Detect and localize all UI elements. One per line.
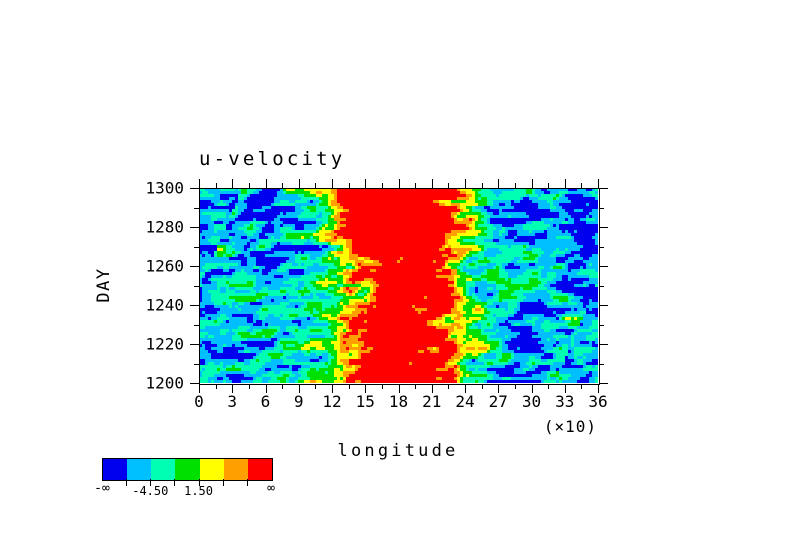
x-major-tick-top xyxy=(266,179,267,188)
colorbar-label: -4.50 xyxy=(132,484,168,498)
y-minor-tick-right xyxy=(599,325,604,326)
y-axis-title: DAY xyxy=(94,267,114,302)
x-minor-tick-bottom xyxy=(581,384,582,389)
x-tick-label: 21 xyxy=(422,392,441,411)
colorbar xyxy=(102,458,273,481)
plot-title: u-velocity xyxy=(199,148,345,170)
x-major-tick-top xyxy=(332,179,333,188)
y-minor-tick-right xyxy=(599,247,604,248)
y-minor-tick-left xyxy=(194,247,199,248)
y-major-tick-right xyxy=(599,344,608,345)
x-minor-tick-top xyxy=(448,183,449,188)
x-major-tick-top xyxy=(565,179,566,188)
x-tick-label: 9 xyxy=(294,392,304,411)
x-minor-tick-top xyxy=(548,183,549,188)
colorbar-label: ∞ xyxy=(267,484,275,494)
y-major-tick-right xyxy=(599,305,608,306)
y-minor-tick-right xyxy=(599,364,604,365)
x-tick-label: 30 xyxy=(522,392,541,411)
x-minor-tick-bottom xyxy=(382,384,383,389)
colorbar-label: 1.50 xyxy=(184,484,213,498)
x-major-tick-top xyxy=(199,179,200,188)
x-tick-label: 12 xyxy=(322,392,341,411)
colorbar-tick xyxy=(247,479,248,486)
y-major-tick-right xyxy=(599,188,608,189)
x-minor-tick-top xyxy=(482,183,483,188)
figure-canvas: u-velocity 03691215182124273033361200122… xyxy=(0,0,789,558)
colorbar-tick xyxy=(174,479,175,486)
x-minor-tick-bottom xyxy=(349,384,350,389)
x-minor-tick-top xyxy=(382,183,383,188)
x-minor-tick-top xyxy=(581,183,582,188)
heatmap-plot-area xyxy=(199,188,598,383)
colorbar-tick xyxy=(126,479,127,486)
x-tick-label: 15 xyxy=(356,392,375,411)
x-minor-tick-bottom xyxy=(282,384,283,389)
colorbar-band-1 xyxy=(127,459,151,480)
x-minor-tick-top xyxy=(216,183,217,188)
x-tick-label: 6 xyxy=(261,392,271,411)
x-major-tick-top xyxy=(432,179,433,188)
x-major-tick-top xyxy=(598,179,599,188)
colorbar-band-2 xyxy=(151,459,175,480)
x-minor-tick-bottom xyxy=(415,384,416,389)
x-minor-tick-bottom xyxy=(548,384,549,389)
y-minor-tick-left xyxy=(194,286,199,287)
x-tick-label: 0 xyxy=(194,392,204,411)
y-minor-tick-right xyxy=(599,208,604,209)
x-tick-label: 24 xyxy=(455,392,474,411)
y-major-tick-right xyxy=(599,227,608,228)
y-tick-label: 1240 xyxy=(145,296,184,315)
y-minor-tick-left xyxy=(194,364,199,365)
y-tick-label: 1280 xyxy=(145,218,184,237)
x-minor-tick-top xyxy=(282,183,283,188)
y-tick-label: 1260 xyxy=(145,257,184,276)
x-axis-title: longitude xyxy=(338,441,459,461)
colorbar-band-4 xyxy=(200,459,224,480)
heatmap-field xyxy=(199,188,598,383)
y-tick-label: 1200 xyxy=(145,374,184,393)
x-major-tick-top xyxy=(399,179,400,188)
colorbar-band-6 xyxy=(248,459,272,480)
y-minor-tick-right xyxy=(599,286,604,287)
y-minor-tick-left xyxy=(194,208,199,209)
x-minor-tick-bottom xyxy=(315,384,316,389)
x-minor-tick-top xyxy=(515,183,516,188)
x-minor-tick-bottom xyxy=(249,384,250,389)
y-major-tick-left xyxy=(190,188,199,189)
x-minor-tick-bottom xyxy=(216,384,217,389)
y-major-tick-left xyxy=(190,227,199,228)
y-major-tick-left xyxy=(190,305,199,306)
colorbar-band-5 xyxy=(224,459,248,480)
y-tick-label: 1300 xyxy=(145,179,184,198)
x-major-tick-top xyxy=(498,179,499,188)
y-major-tick-left xyxy=(190,383,199,384)
y-major-tick-left xyxy=(190,266,199,267)
x-minor-tick-bottom xyxy=(448,384,449,389)
x-tick-label: 3 xyxy=(227,392,237,411)
x-major-tick-top xyxy=(365,179,366,188)
x-minor-tick-top xyxy=(249,183,250,188)
colorbar-label: -∞ xyxy=(94,484,110,494)
x-minor-tick-top xyxy=(349,183,350,188)
y-major-tick-left xyxy=(190,344,199,345)
x-major-tick-top xyxy=(299,179,300,188)
y-major-tick-right xyxy=(599,266,608,267)
x-minor-tick-bottom xyxy=(515,384,516,389)
x-tick-label: 27 xyxy=(489,392,508,411)
x-tick-label: 18 xyxy=(389,392,408,411)
x-minor-tick-bottom xyxy=(482,384,483,389)
colorbar-band-3 xyxy=(175,459,199,480)
x-minor-tick-top xyxy=(315,183,316,188)
y-minor-tick-left xyxy=(194,325,199,326)
x-tick-label: 36 xyxy=(588,392,607,411)
x-major-tick-top xyxy=(532,179,533,188)
colorbar-band-0 xyxy=(103,459,127,480)
colorbar-tick xyxy=(223,479,224,486)
x-major-tick-top xyxy=(232,179,233,188)
x-tick-label: 33 xyxy=(555,392,574,411)
y-tick-label: 1220 xyxy=(145,335,184,354)
x-major-tick-top xyxy=(465,179,466,188)
x-minor-tick-top xyxy=(415,183,416,188)
x-axis-multiplier-label: (×10) xyxy=(544,417,597,436)
y-major-tick-right xyxy=(599,383,608,384)
